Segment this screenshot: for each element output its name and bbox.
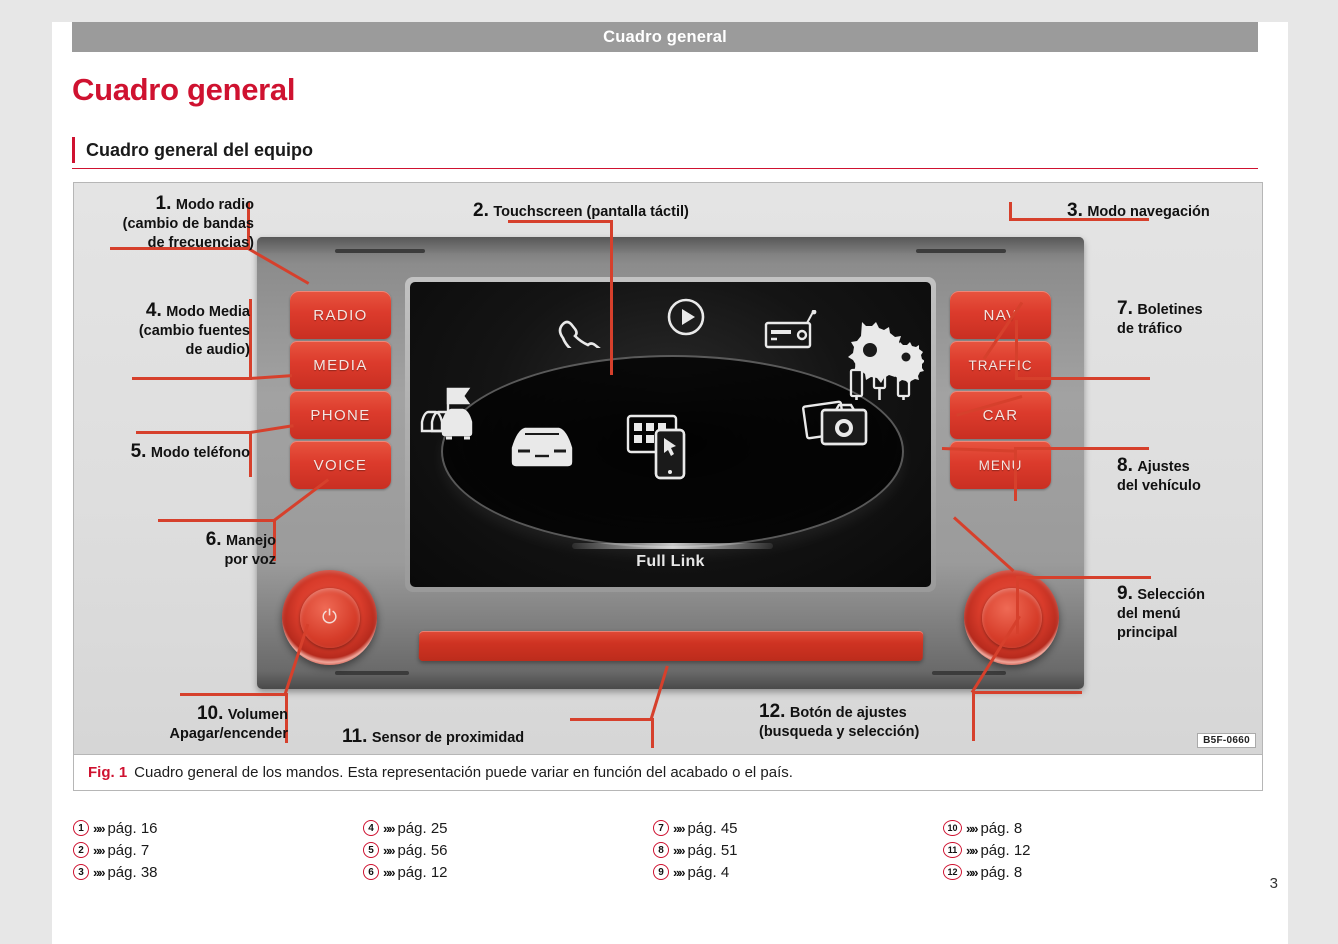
ref-number-badge: 3: [73, 864, 89, 880]
callout-2: 2. Touchscreen (pantalla táctil): [473, 200, 733, 222]
chevron-right-icon: »»: [966, 865, 976, 880]
photos-camera-icon[interactable]: [802, 394, 880, 456]
vent-slot: [932, 671, 1006, 675]
list-item[interactable]: 6 »» pág. 12: [363, 861, 653, 883]
list-item[interactable]: 5 »» pág. 56: [363, 839, 653, 861]
ref-page: pág. 16: [107, 820, 157, 837]
list-item[interactable]: 12 »» pág. 8: [943, 861, 1233, 883]
manual-page: Cuadro general Cuadro general Cuadro gen…: [52, 22, 1288, 944]
leader-line: [1009, 202, 1012, 220]
ref-page: pág. 51: [687, 842, 737, 859]
chevron-right-icon: »»: [673, 821, 683, 836]
section-heading: Cuadro general del equipo: [72, 137, 1258, 163]
leader-line: [1016, 576, 1019, 634]
leader-line: [1015, 320, 1018, 378]
ref-number-badge: 11: [943, 842, 962, 858]
knob-face: [982, 588, 1042, 648]
leader-line: [1016, 576, 1151, 579]
volume-power-knob[interactable]: ⏻: [282, 570, 377, 665]
leader-line: [651, 718, 654, 748]
proximity-sensor-bar: [419, 631, 924, 661]
callout-3: 3. Modo navegación: [1067, 200, 1263, 222]
list-item[interactable]: 1 »» pág. 16: [73, 817, 363, 839]
chevron-right-icon: »»: [93, 821, 103, 836]
ref-page: pág. 12: [980, 842, 1030, 859]
page-title: Cuadro general: [72, 72, 295, 108]
leader-line: [1014, 447, 1017, 501]
ref-number-badge: 4: [363, 820, 379, 836]
leader-line: [570, 718, 654, 721]
vent-slot: [916, 249, 1006, 253]
callout-12: 12. Botón de ajustes (busqueda y selecci…: [759, 701, 1019, 742]
traffic-button[interactable]: TRAFFIC: [950, 341, 1051, 389]
callout-1: 1. Modo radio (cambio de bandas de frecu…: [94, 193, 254, 252]
leader-line: [136, 431, 250, 434]
list-item[interactable]: 7 »» pág. 45: [653, 817, 943, 839]
vent-slot: [335, 249, 425, 253]
right-button-column: NAV TRAFFIC CAR MENU: [950, 291, 1051, 489]
radio-tuner-icon[interactable]: [763, 310, 819, 352]
leader-line: [1015, 377, 1150, 380]
screen-label: Full Link: [410, 553, 931, 571]
leader-line: [158, 519, 276, 522]
ref-page: pág. 8: [980, 864, 1022, 881]
media-play-icon[interactable]: [663, 294, 709, 340]
left-button-column: RADIO MEDIA PHONE VOICE: [290, 291, 391, 489]
touchscreen[interactable]: Full Link: [410, 282, 931, 587]
ref-page: pág. 56: [397, 842, 447, 859]
ref-number-badge: 7: [653, 820, 669, 836]
list-item[interactable]: 9 »» pág. 4: [653, 861, 943, 883]
leader-line: [180, 693, 288, 696]
callout-8: 8. Ajustes del vehículo: [1117, 455, 1257, 496]
media-button[interactable]: MEDIA: [290, 341, 391, 389]
ref-number-badge: 8: [653, 842, 669, 858]
ref-number-badge: 9: [653, 864, 669, 880]
chevron-right-icon: »»: [383, 865, 393, 880]
phone-handset-icon[interactable]: [555, 304, 607, 348]
traffic-cars-flag-icon[interactable]: [418, 382, 496, 446]
callout-7: 7. Boletines de tráfico: [1117, 298, 1257, 339]
power-icon: ⏻: [300, 588, 360, 648]
car-front-icon[interactable]: [505, 420, 579, 470]
ref-page: pág. 7: [107, 842, 149, 859]
list-item[interactable]: 4 »» pág. 25: [363, 817, 653, 839]
running-head: Cuadro general: [72, 22, 1258, 52]
leader-line: [972, 691, 1082, 694]
ref-number-badge: 5: [363, 842, 379, 858]
list-item[interactable]: 2 »» pág. 7: [73, 839, 363, 861]
figure-code-badge: B5F-0660: [1197, 733, 1256, 748]
car-button[interactable]: CAR: [950, 391, 1051, 439]
settings-gears-sliders-icon[interactable]: [842, 320, 924, 404]
page-number: 3: [1270, 875, 1278, 892]
phone-button[interactable]: PHONE: [290, 391, 391, 439]
ref-page: pág. 25: [397, 820, 447, 837]
list-item[interactable]: 11 »» pág. 12: [943, 839, 1233, 861]
chevron-right-icon: »»: [93, 865, 103, 880]
chevron-right-icon: »»: [383, 821, 393, 836]
list-item[interactable]: 10 »» pág. 8: [943, 817, 1233, 839]
ref-page: pág. 38: [107, 864, 157, 881]
callout-9: 9. Selección del menú principal: [1117, 583, 1257, 642]
screen-bezel: Full Link: [405, 277, 936, 592]
chevron-right-icon: »»: [673, 865, 683, 880]
leader-line: [132, 377, 252, 380]
list-item[interactable]: 3 »» pág. 38: [73, 861, 363, 883]
ref-number-badge: 6: [363, 864, 379, 880]
ref-number-badge: 2: [73, 842, 89, 858]
section-block: Cuadro general del equipo: [72, 137, 1258, 169]
callout-4: 4. Modo Media (cambio fuentes de audio): [90, 300, 250, 359]
voice-button[interactable]: VOICE: [290, 441, 391, 489]
infotainment-unit: RADIO MEDIA PHONE VOICE NAV TRAFFIC CAR …: [257, 237, 1084, 689]
ref-column: 4 »» pág. 25 5 »» pág. 56 6 »» pág. 12: [363, 817, 653, 883]
settings-selector-knob[interactable]: [964, 570, 1059, 665]
figure-label: Fig. 1: [88, 764, 127, 781]
ref-number-badge: 12: [943, 864, 962, 880]
ref-column: 7 »» pág. 45 8 »» pág. 51 9 »» pág. 4: [653, 817, 943, 883]
ref-page: pág. 8: [980, 820, 1022, 837]
ref-column: 1 »» pág. 16 2 »» pág. 7 3 »» pág. 38: [73, 817, 363, 883]
chevron-right-icon: »»: [966, 821, 976, 836]
ref-number-badge: 10: [943, 820, 962, 836]
ref-page: pág. 12: [397, 864, 447, 881]
list-item[interactable]: 8 »» pág. 51: [653, 839, 943, 861]
chevron-right-icon: »»: [966, 843, 976, 858]
figure-caption-text: Cuadro general de los mandos. Esta repre…: [134, 764, 793, 781]
figure-illustration: RADIO MEDIA PHONE VOICE NAV TRAFFIC CAR …: [73, 182, 1263, 755]
callout-10: 10. Volumen Apagar/encender: [122, 703, 288, 744]
callout-6: 6. Manejo por voz: [114, 529, 276, 570]
chevron-right-icon: »»: [383, 843, 393, 858]
ref-page: pág. 45: [687, 820, 737, 837]
chevron-right-icon: »»: [93, 843, 103, 858]
callout-5: 5. Modo teléfono: [90, 441, 250, 463]
vent-slot: [335, 671, 409, 675]
page-reference-list: 1 »» pág. 16 2 »» pág. 7 3 »» pág. 38 4 …: [73, 817, 1263, 883]
fulllink-smartphone-icon[interactable]: [626, 410, 696, 482]
leader-line: [610, 220, 613, 375]
radio-button[interactable]: RADIO: [290, 291, 391, 339]
chevron-right-icon: »»: [673, 843, 683, 858]
ref-page: pág. 4: [687, 864, 729, 881]
ref-number-badge: 1: [73, 820, 89, 836]
leader-line: [1014, 447, 1149, 450]
ref-column: 10 »» pág. 8 11 »» pág. 12 12 »» pág. 8: [943, 817, 1233, 883]
figure-caption: Fig. 1 Cuadro general de los mandos. Est…: [73, 755, 1263, 791]
section-divider: [72, 168, 1258, 169]
callout-11: 11. Sensor de proximidad: [342, 726, 602, 748]
